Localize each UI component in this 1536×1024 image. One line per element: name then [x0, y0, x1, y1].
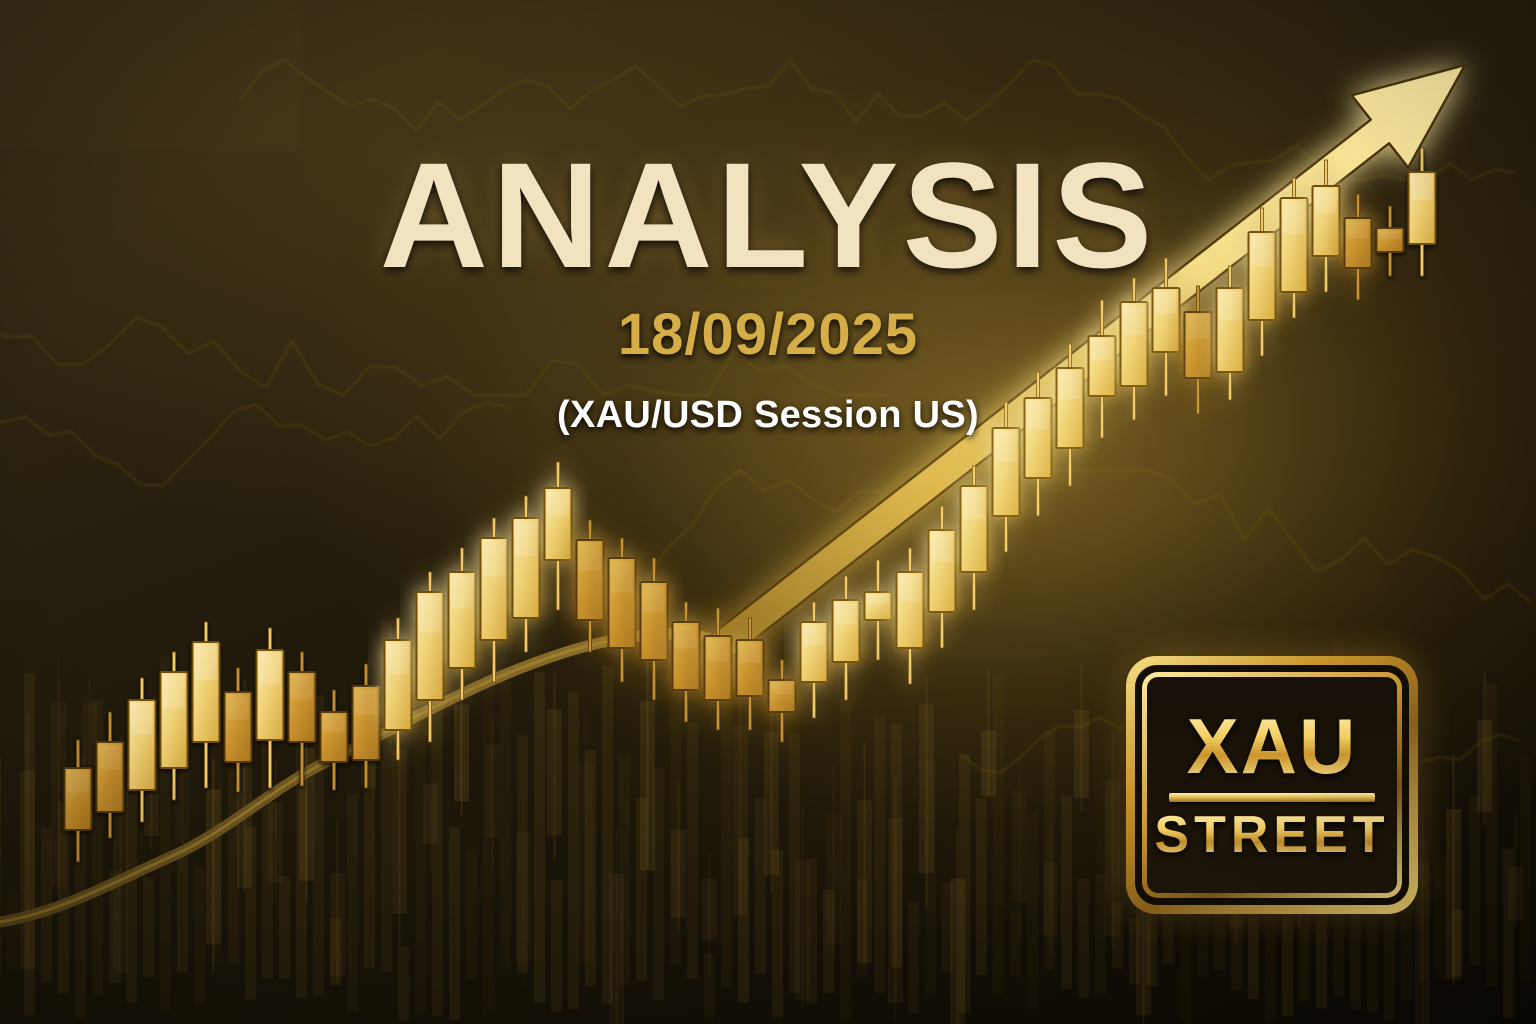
banner-canvas: ANALYSIS 18/09/2025 (XAU/USD Session US)… [0, 0, 1536, 1024]
film-grain-overlay [0, 0, 300, 150]
vignette-overlay [0, 0, 1536, 1024]
